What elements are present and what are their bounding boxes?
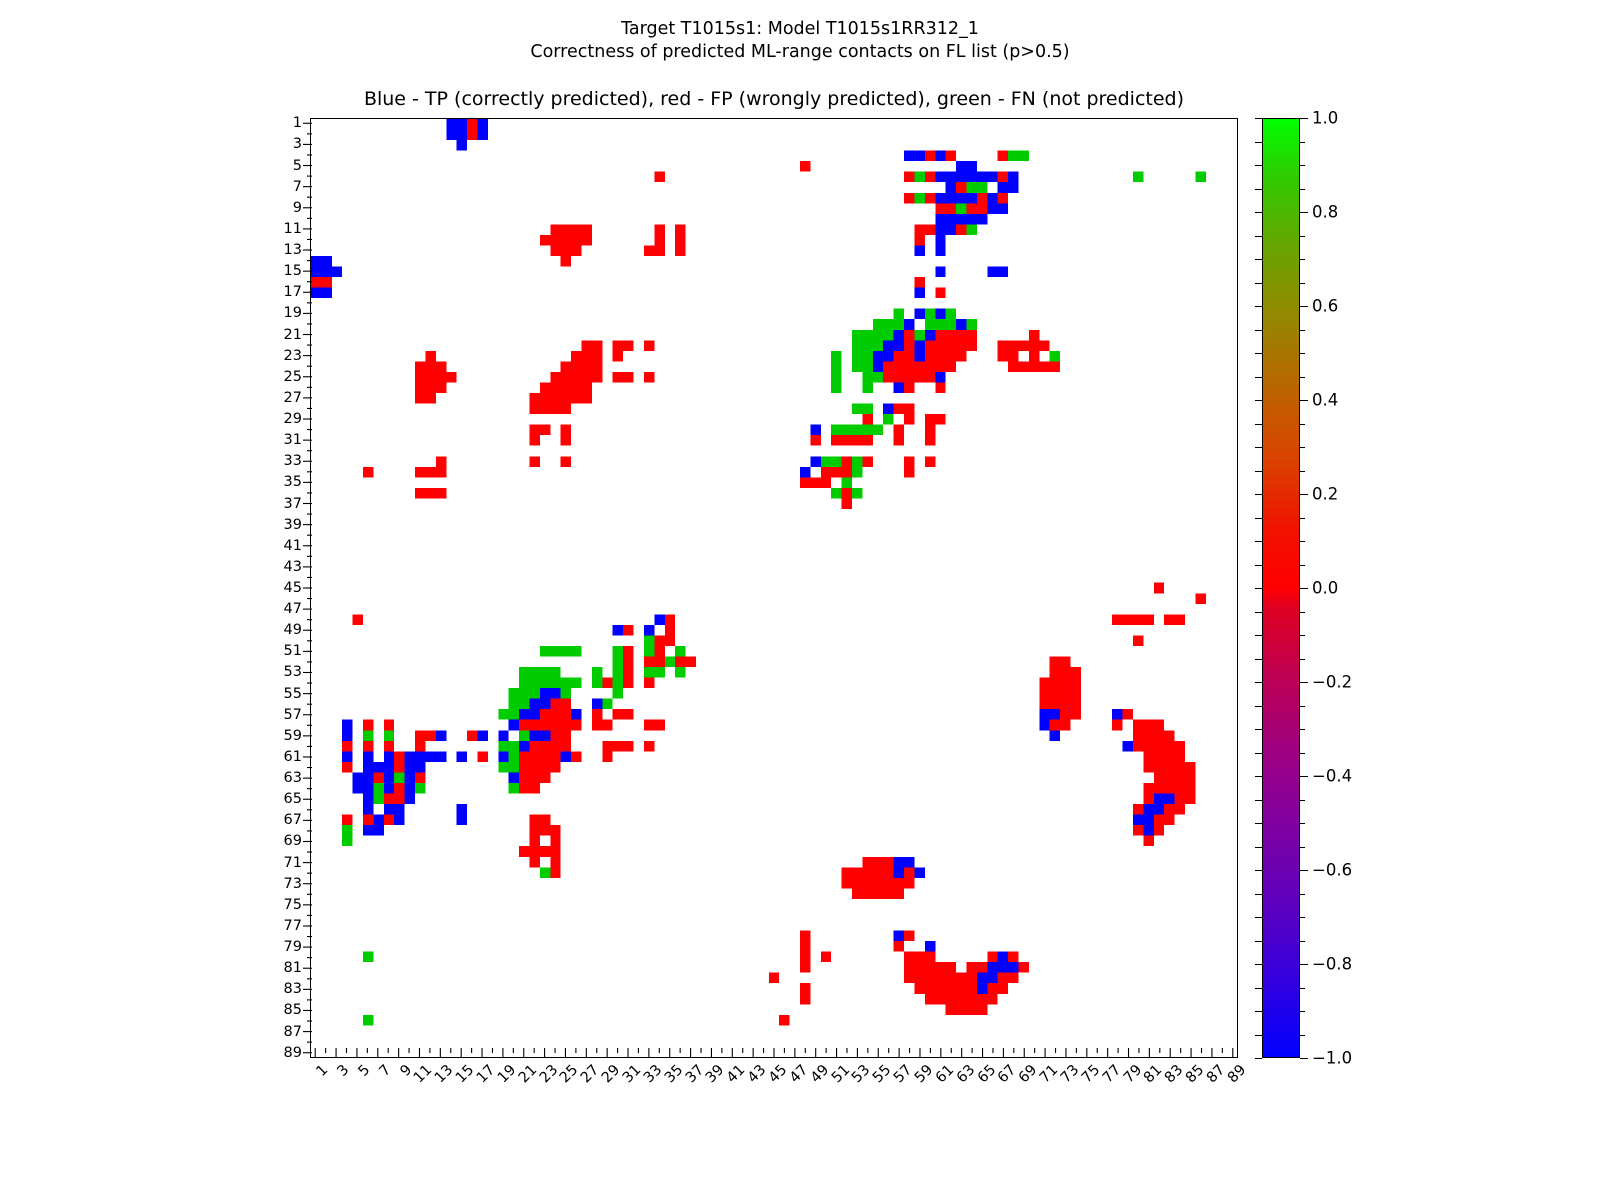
contact-cell: [654, 614, 664, 625]
contact-cell: [529, 456, 539, 467]
contact-cell: [529, 393, 539, 404]
contact-cell: [394, 815, 404, 826]
contact-cell: [342, 730, 352, 741]
contact-cell: [477, 730, 487, 741]
contact-cell: [1133, 720, 1143, 731]
colorbar-minor-tick-left: [1255, 1011, 1262, 1012]
y-tick-label: 19: [284, 305, 302, 321]
contact-cell: [862, 351, 872, 362]
contact-cell: [831, 351, 841, 362]
contact-cell: [925, 414, 935, 425]
contact-cell: [498, 730, 508, 741]
y-tick-label: 5: [293, 158, 302, 174]
contact-cell: [571, 678, 581, 689]
contact-cell: [956, 973, 966, 984]
contact-cell: [1164, 815, 1174, 826]
contact-cell: [394, 794, 404, 805]
contact-cell: [842, 467, 852, 478]
y-tick-label: 89: [284, 1045, 302, 1061]
contact-cell: [509, 741, 519, 752]
contact-cell: [935, 309, 945, 320]
contact-cell: [873, 351, 883, 362]
contact-cell: [446, 119, 456, 130]
contact-cell: [894, 330, 904, 341]
contact-cell: [914, 372, 924, 383]
contact-cell: [904, 340, 914, 351]
contact-cell: [873, 319, 883, 330]
contact-cell: [852, 361, 862, 372]
contact-cell: [644, 340, 654, 351]
contact-cell: [977, 203, 987, 214]
contact-cell: [842, 435, 852, 446]
contact-cell: [654, 172, 664, 183]
contact-cell: [894, 888, 904, 899]
contact-cell: [852, 878, 862, 889]
contact-cell: [550, 836, 560, 847]
colorbar-minor-tick: [1300, 1058, 1305, 1059]
colorbar-minor-tick-left: [1255, 494, 1262, 495]
contact-cell: [904, 351, 914, 362]
y-tick-label: 59: [284, 728, 302, 744]
contact-cell: [1029, 351, 1039, 362]
contact-cell: [529, 435, 539, 446]
contact-cell: [529, 709, 539, 720]
contact-cell: [529, 772, 539, 783]
contact-cell: [998, 962, 1008, 973]
contact-cell: [592, 351, 602, 362]
colorbar-minor-tick-left: [1255, 823, 1262, 824]
contact-cell: [550, 857, 560, 868]
contact-cell: [613, 625, 623, 636]
contact-cell: [904, 382, 914, 393]
contact-cell: [873, 361, 883, 372]
contact-cell: [561, 224, 571, 235]
contact-cell: [363, 730, 373, 741]
contact-cell: [852, 467, 862, 478]
contact-cell: [529, 404, 539, 415]
contact-cell: [623, 657, 633, 668]
contact-map-plot-area: [310, 118, 1238, 1058]
contact-cell: [561, 245, 571, 256]
contact-cell: [894, 361, 904, 372]
contact-cell: [935, 340, 945, 351]
contact-cell: [425, 351, 435, 362]
contact-cell: [987, 172, 997, 183]
colorbar-minor-tick-left: [1255, 588, 1262, 589]
contact-cell: [800, 477, 810, 488]
contact-cell: [925, 941, 935, 952]
contact-cell: [862, 888, 872, 899]
contact-cell: [1060, 709, 1070, 720]
contact-cell: [894, 351, 904, 362]
contact-cell: [425, 361, 435, 372]
contact-cell: [613, 709, 623, 720]
colorbar-minor-tick-left: [1255, 612, 1262, 613]
contact-cell: [686, 657, 696, 668]
contact-cell: [904, 193, 914, 204]
colorbar-minor-tick: [1300, 400, 1305, 401]
contact-cell: [956, 203, 966, 214]
contact-cell: [373, 772, 383, 783]
contact-cell: [1154, 825, 1164, 836]
contact-cell: [925, 994, 935, 1005]
contact-cell: [602, 678, 612, 689]
contact-cell: [956, 182, 966, 193]
contact-cell: [561, 699, 571, 710]
contact-cell: [925, 973, 935, 984]
contact-cell: [1164, 783, 1174, 794]
contact-cell: [946, 1004, 956, 1015]
contact-cell: [821, 467, 831, 478]
contact-cell: [1060, 699, 1070, 710]
contact-cell: [800, 994, 810, 1005]
colorbar-minor-tick-left: [1255, 142, 1262, 143]
contact-cell: [415, 393, 425, 404]
axes-legend-title: Blue - TP (correctly predicted), red - F…: [310, 88, 1238, 110]
contact-cell: [1175, 741, 1185, 752]
contact-cell: [457, 804, 467, 815]
contact-cell: [1154, 772, 1164, 783]
contact-cell: [1060, 657, 1070, 668]
x-tick-label: 7: [376, 1062, 394, 1080]
colorbar-minor-tick-left: [1255, 306, 1262, 307]
contact-cell: [862, 404, 872, 415]
contact-cell: [561, 393, 571, 404]
colorbar-minor-tick-left: [1255, 682, 1262, 683]
contact-cell: [1112, 720, 1122, 731]
contact-cell: [1164, 614, 1174, 625]
y-tick-label: 73: [284, 876, 302, 892]
contact-cell: [862, 340, 872, 351]
contact-cell: [998, 351, 1008, 362]
contact-cell: [852, 867, 862, 878]
contact-cell: [654, 635, 664, 646]
contact-cell: [883, 404, 893, 415]
contact-cell: [363, 815, 373, 826]
contact-cell: [1112, 614, 1122, 625]
title-line-2: Correctness of predicted ML-range contac…: [0, 41, 1600, 64]
contact-cell: [946, 962, 956, 973]
contact-cell: [894, 319, 904, 330]
contact-cell: [550, 382, 560, 393]
y-tick-label: 51: [284, 643, 302, 659]
contact-cell: [582, 393, 592, 404]
contact-cell: [384, 794, 394, 805]
contact-cell: [862, 361, 872, 372]
contact-cell: [1164, 772, 1174, 783]
contact-cell: [509, 709, 519, 720]
contact-cell: [342, 741, 352, 752]
contact-cell: [842, 425, 852, 436]
colorbar-tick-label: 0.8: [1312, 203, 1338, 222]
contact-cell: [914, 952, 924, 963]
contact-cell: [1154, 583, 1164, 594]
contact-cell: [477, 130, 487, 141]
contact-cell: [540, 846, 550, 857]
contact-cell: [1143, 720, 1153, 731]
contact-cell: [613, 741, 623, 752]
contact-cell: [1143, 794, 1153, 805]
contact-cell: [353, 772, 363, 783]
contact-cell: [966, 214, 976, 225]
contact-cell: [873, 857, 883, 868]
contact-cell: [966, 994, 976, 1005]
colorbar-minor-tick-left: [1255, 471, 1262, 472]
contact-cell: [904, 404, 914, 415]
contact-cell: [529, 741, 539, 752]
contact-cell: [1143, 804, 1153, 815]
contact-cell: [977, 983, 987, 994]
contact-cell: [550, 825, 560, 836]
colorbar-minor-tick-left: [1255, 259, 1262, 260]
contact-cell: [977, 214, 987, 225]
contact-cell: [1071, 678, 1081, 689]
y-tick-label: 71: [284, 855, 302, 871]
contact-cell: [561, 372, 571, 383]
contact-cell: [363, 741, 373, 752]
contact-cell: [862, 878, 872, 889]
contact-cell: [436, 751, 446, 762]
colorbar-tick-label: 0.0: [1312, 579, 1338, 598]
colorbar-minor-tick: [1300, 776, 1305, 777]
colorbar-minor-tick: [1300, 729, 1305, 730]
contact-cell: [436, 372, 446, 383]
contact-cell: [800, 941, 810, 952]
contact-cell: [342, 825, 352, 836]
contact-cell: [415, 382, 425, 393]
figure-title: Target T1015s1: Model T1015s1RR312_1 Cor…: [0, 18, 1600, 64]
colorbar-minor-tick: [1300, 424, 1305, 425]
contact-cell: [925, 351, 935, 362]
colorbar-minor-tick-left: [1255, 189, 1262, 190]
contact-cell: [914, 224, 924, 235]
contact-cell: [998, 182, 1008, 193]
contact-cell: [623, 372, 633, 383]
colorbar-tick-label: −0.4: [1312, 767, 1352, 786]
contact-cell: [540, 815, 550, 826]
contact-cell: [1175, 751, 1185, 762]
contact-cell: [966, 330, 976, 341]
contact-cell: [1143, 741, 1153, 752]
colorbar-minor-tick-left: [1255, 706, 1262, 707]
colorbar-minor-tick: [1300, 800, 1305, 801]
y-tick-label: 57: [284, 707, 302, 723]
contact-cell: [613, 646, 623, 657]
contact-cell: [529, 751, 539, 762]
contact-cell: [873, 330, 883, 341]
contact-cells-layer: [311, 119, 1237, 1057]
contact-cell: [519, 741, 529, 752]
contact-cell: [644, 245, 654, 256]
contact-cell: [540, 235, 550, 246]
contact-cell: [550, 709, 560, 720]
colorbar-tick-label: −1.0: [1312, 1049, 1352, 1068]
contact-cell: [1175, 804, 1185, 815]
contact-cell: [956, 161, 966, 172]
contact-cell: [540, 867, 550, 878]
colorbar-minor-tick-left: [1255, 447, 1262, 448]
y-tick-label: 17: [284, 284, 302, 300]
colorbar-minor-tick-left: [1255, 800, 1262, 801]
contact-cell: [509, 688, 519, 699]
contact-cell: [561, 235, 571, 246]
contact-cell: [519, 846, 529, 857]
y-tick-label: 47: [284, 601, 302, 617]
colorbar-minor-tick: [1300, 353, 1305, 354]
contact-cell: [987, 193, 997, 204]
contact-cell: [363, 762, 373, 773]
y-tick-label: 75: [284, 897, 302, 913]
contact-cell: [519, 720, 529, 731]
contact-cell: [613, 678, 623, 689]
colorbar-minor-tick: [1300, 917, 1305, 918]
y-tick-label: 81: [284, 960, 302, 976]
contact-cell: [529, 425, 539, 436]
contact-cell: [977, 962, 987, 973]
y-tick-label: 41: [284, 538, 302, 554]
contact-cell: [862, 867, 872, 878]
contact-cell: [446, 372, 456, 383]
colorbar-minor-tick: [1300, 212, 1305, 213]
contact-cell: [654, 224, 664, 235]
contact-cell: [852, 340, 862, 351]
contact-cell: [623, 741, 633, 752]
colorbar-minor-tick: [1300, 588, 1305, 589]
contact-cell: [935, 224, 945, 235]
contact-cell: [1050, 688, 1060, 699]
contact-cell: [550, 646, 560, 657]
contact-cell: [800, 161, 810, 172]
contact-cell: [353, 614, 363, 625]
contact-cell: [977, 994, 987, 1005]
contact-cell: [623, 667, 633, 678]
contact-cell: [342, 836, 352, 847]
contact-cell: [1039, 688, 1049, 699]
colorbar-minor-tick: [1300, 1035, 1305, 1036]
contact-cell: [436, 730, 446, 741]
contact-cell: [394, 762, 404, 773]
contact-cell: [654, 657, 664, 668]
contact-cell: [946, 330, 956, 341]
contact-cell: [904, 878, 914, 889]
contact-cell: [540, 720, 550, 731]
contact-cell: [1060, 688, 1070, 699]
contact-cell: [613, 340, 623, 351]
colorbar-minor-tick: [1300, 659, 1305, 660]
contact-cell: [977, 193, 987, 204]
contact-cell: [883, 361, 893, 372]
contact-cell: [561, 361, 571, 372]
contact-cell: [353, 783, 363, 794]
contact-cell: [800, 467, 810, 478]
contact-cell: [436, 467, 446, 478]
contact-cell: [561, 646, 571, 657]
contact-cell: [904, 414, 914, 425]
contact-cell: [561, 730, 571, 741]
contact-cell: [852, 435, 862, 446]
contact-cell: [623, 678, 633, 689]
colorbar-minor-tick: [1300, 236, 1305, 237]
contact-cell: [998, 172, 1008, 183]
contact-cell: [1008, 952, 1018, 963]
contact-cell: [550, 688, 560, 699]
contact-cell: [425, 393, 435, 404]
contact-cell: [561, 678, 571, 689]
y-tick-label: 61: [284, 749, 302, 765]
contact-cell: [571, 382, 581, 393]
contact-cell: [1185, 762, 1195, 773]
colorbar-minor-tick: [1300, 635, 1305, 636]
y-tick-label: 43: [284, 559, 302, 575]
contact-cell: [914, 330, 924, 341]
colorbar-minor-tick: [1300, 753, 1305, 754]
contact-cell: [935, 203, 945, 214]
colorbar-minor-tick-left: [1255, 236, 1262, 237]
contact-cell: [540, 404, 550, 415]
contact-cell: [384, 741, 394, 752]
contact-cell: [415, 467, 425, 478]
contact-cell: [321, 277, 331, 288]
contact-cell: [966, 973, 976, 984]
colorbar-minor-ticks-left: [1240, 118, 1262, 1058]
colorbar-tick-label: 0.2: [1312, 485, 1338, 504]
colorbar-minor-tick-left: [1255, 541, 1262, 542]
contact-cell: [665, 635, 675, 646]
contact-cell: [592, 678, 602, 689]
colorbar-minor-tick-left: [1255, 776, 1262, 777]
contact-cell: [550, 678, 560, 689]
contact-cell: [1039, 709, 1049, 720]
colorbar-tick-label: −0.2: [1312, 673, 1352, 692]
contact-cell: [623, 709, 633, 720]
contact-cell: [571, 720, 581, 731]
contact-cell: [467, 119, 477, 130]
contact-cell: [1164, 804, 1174, 815]
contact-cell: [550, 730, 560, 741]
contact-cell: [415, 741, 425, 752]
contact-cell: [925, 193, 935, 204]
contact-cell: [987, 973, 997, 984]
contact-cell: [1008, 351, 1018, 362]
contact-cell: [852, 404, 862, 415]
contact-cell: [831, 488, 841, 499]
contact-cell: [498, 751, 508, 762]
contact-cell: [529, 720, 539, 731]
contact-cell: [519, 730, 529, 741]
contact-cell: [831, 467, 841, 478]
contact-cell: [654, 245, 664, 256]
contact-cell: [665, 657, 675, 668]
contact-cell: [966, 983, 976, 994]
contact-cell: [602, 699, 612, 710]
contact-cell: [561, 425, 571, 436]
contact-cell: [540, 667, 550, 678]
colorbar-minor-tick-left: [1255, 870, 1262, 871]
contact-cell: [914, 867, 924, 878]
contact-cell: [1154, 762, 1164, 773]
y-tick-label: 87: [284, 1024, 302, 1040]
contact-cell: [831, 361, 841, 372]
contact-cell: [862, 425, 872, 436]
contact-cell: [831, 435, 841, 446]
contact-cell: [550, 751, 560, 762]
contact-cell: [675, 657, 685, 668]
contact-cell: [1071, 709, 1081, 720]
contact-cell: [1019, 962, 1029, 973]
contact-cell: [550, 741, 560, 752]
contact-cell: [842, 477, 852, 488]
colorbar-minor-tick: [1300, 471, 1305, 472]
